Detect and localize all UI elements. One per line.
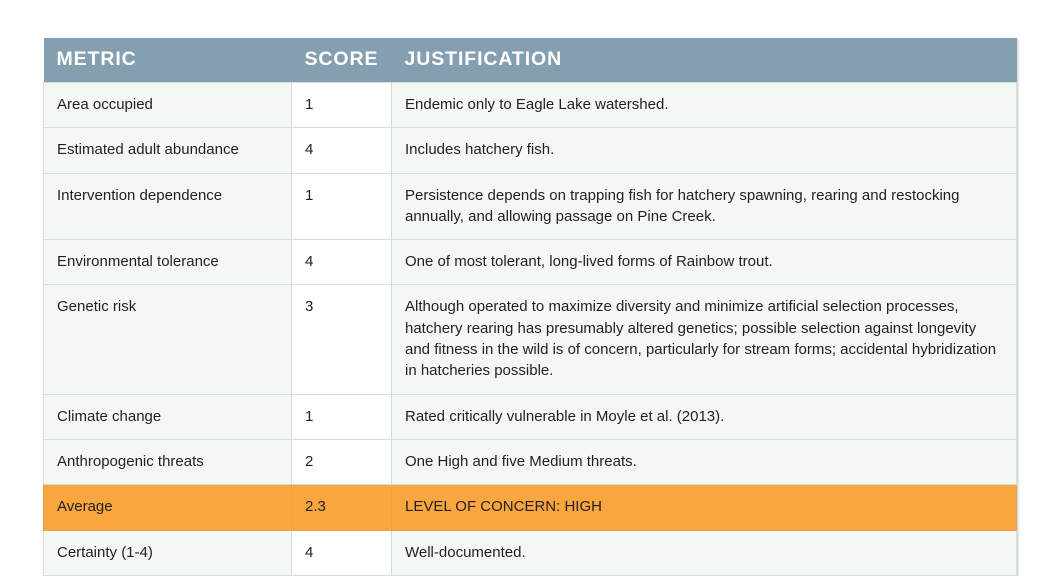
cell-level-of-concern: LEVEL OF CONCERN: HIGH: [392, 485, 1017, 530]
column-header-metric: METRIC: [44, 38, 292, 83]
cell-metric: Estimated adult abundance: [44, 128, 292, 173]
table-row: Intervention dependence 1 Persistence de…: [44, 173, 1017, 240]
table-body: Area occupied 1 Endemic only to Eagle La…: [44, 83, 1017, 576]
table-row: Estimated adult abundance 4 Includes hat…: [44, 128, 1017, 173]
table-row: Environmental tolerance 4 One of most to…: [44, 240, 1017, 285]
cell-justification: Persistence depends on trapping fish for…: [392, 173, 1017, 240]
cell-justification: Although operated to maximize diversity …: [392, 285, 1017, 394]
species-assessment-table: METRIC SCORE JUSTIFICATION Area occupied…: [43, 38, 1017, 576]
cell-justification: One of most tolerant, long-lived forms o…: [392, 240, 1017, 285]
cell-metric: Genetic risk: [44, 285, 292, 394]
table-header-row: METRIC SCORE JUSTIFICATION: [44, 38, 1017, 83]
cell-score: 2.3: [292, 485, 392, 530]
cell-score: 1: [292, 394, 392, 439]
cell-metric: Average: [44, 485, 292, 530]
table-header: METRIC SCORE JUSTIFICATION: [44, 38, 1017, 83]
assessment-table-container: METRIC SCORE JUSTIFICATION Area occupied…: [43, 38, 1016, 576]
cell-metric: Anthropogenic threats: [44, 439, 292, 484]
cell-metric: Environmental tolerance: [44, 240, 292, 285]
table-row-average: Average 2.3 LEVEL OF CONCERN: HIGH: [44, 485, 1017, 530]
cell-score: 4: [292, 530, 392, 575]
cell-score: 4: [292, 128, 392, 173]
cell-metric: Intervention dependence: [44, 173, 292, 240]
cell-score: 1: [292, 83, 392, 128]
table-row: Certainty (1-4) 4 Well-documented.: [44, 530, 1017, 575]
table-row: Area occupied 1 Endemic only to Eagle La…: [44, 83, 1017, 128]
column-header-justification: JUSTIFICATION: [392, 38, 1017, 83]
column-header-score: SCORE: [292, 38, 392, 83]
cell-justification: One High and five Medium threats.: [392, 439, 1017, 484]
cell-score: 4: [292, 240, 392, 285]
cell-justification: Well-documented.: [392, 530, 1017, 575]
cell-metric: Area occupied: [44, 83, 292, 128]
cell-score: 3: [292, 285, 392, 394]
cell-metric: Climate change: [44, 394, 292, 439]
table-row: Anthropogenic threats 2 One High and fiv…: [44, 439, 1017, 484]
cell-score: 2: [292, 439, 392, 484]
table-row: Climate change 1 Rated critically vulner…: [44, 394, 1017, 439]
cell-justification: Endemic only to Eagle Lake watershed.: [392, 83, 1017, 128]
cell-metric: Certainty (1-4): [44, 530, 292, 575]
cell-justification: Rated critically vulnerable in Moyle et …: [392, 394, 1017, 439]
table-row: Genetic risk 3 Although operated to maxi…: [44, 285, 1017, 394]
cell-score: 1: [292, 173, 392, 240]
cell-justification: Includes hatchery fish.: [392, 128, 1017, 173]
